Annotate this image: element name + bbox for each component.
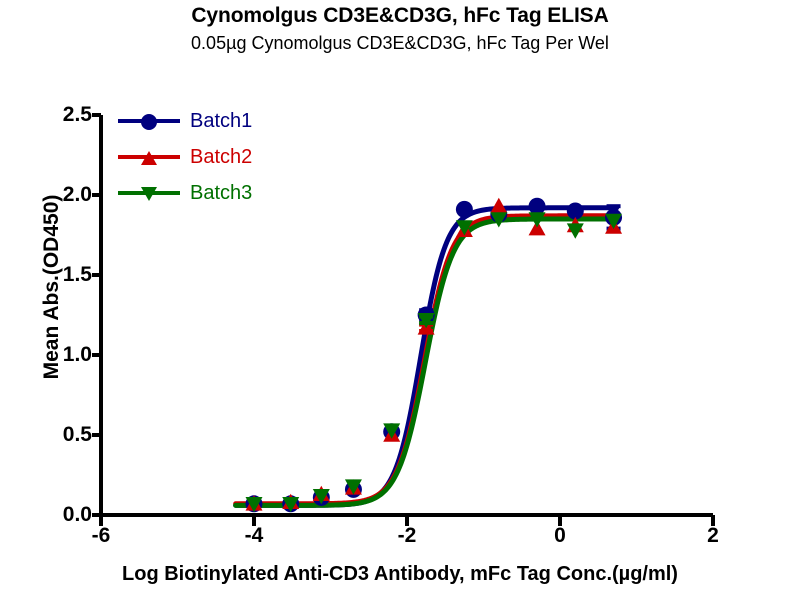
legend: Batch1Batch2Batch3 xyxy=(118,103,252,211)
legend-label: Batch2 xyxy=(190,147,252,167)
legend-label: Batch1 xyxy=(190,111,252,131)
plot-area xyxy=(0,0,800,600)
data-point-batch2 xyxy=(490,198,507,213)
legend-swatch xyxy=(118,146,180,168)
triangle-up-marker-icon xyxy=(141,151,157,165)
legend-swatch xyxy=(118,110,180,132)
data-point-batch1 xyxy=(456,201,473,218)
legend-item-batch2[interactable]: Batch2 xyxy=(118,139,252,175)
legend-item-batch3[interactable]: Batch3 xyxy=(118,175,252,211)
legend-swatch xyxy=(118,182,180,204)
triangle-down-marker-icon xyxy=(141,187,157,201)
data-point-batch1 xyxy=(529,198,546,215)
elisa-chart-figure: Cynomolgus CD3E&CD3G, hFc Tag ELISA 0.05… xyxy=(0,0,800,600)
legend-item-batch1[interactable]: Batch1 xyxy=(118,103,252,139)
fit-curve-batch3 xyxy=(236,219,617,505)
legend-label: Batch3 xyxy=(190,183,252,203)
circle-marker-icon xyxy=(141,114,157,130)
